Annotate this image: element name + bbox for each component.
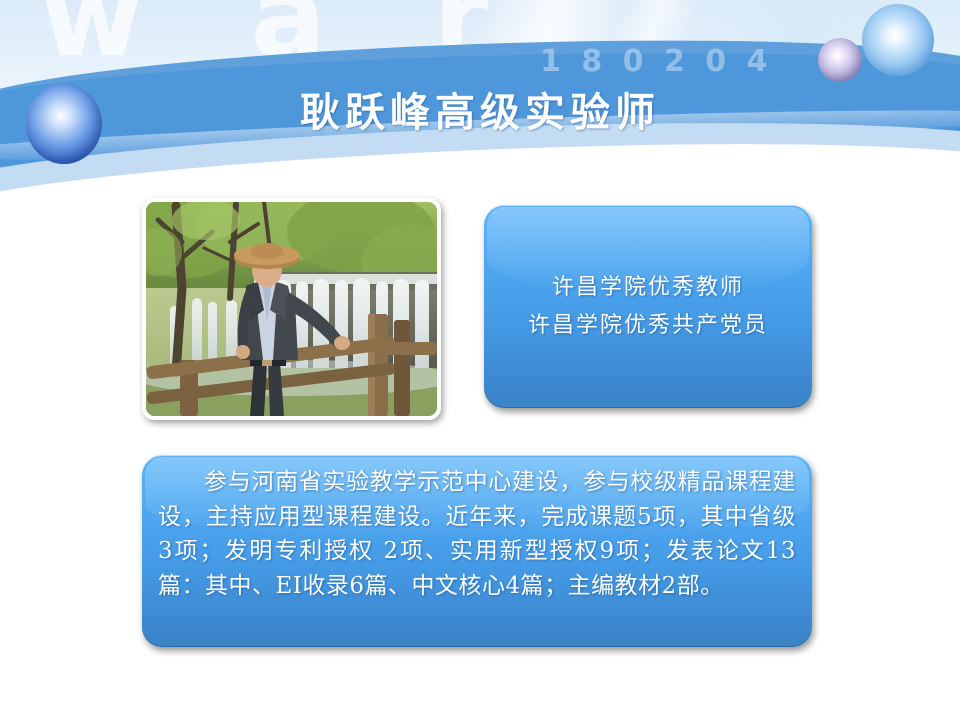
honors-box: 许昌学院优秀教师 许昌学院优秀共产党员 — [484, 205, 812, 408]
portrait-photo-frame — [142, 198, 441, 420]
page-title: 耿跃峰高级实验师 — [0, 80, 960, 138]
portrait-photo-illustration — [146, 202, 437, 416]
portrait-photo — [146, 202, 437, 416]
sphere-top-right-large-blue-icon — [862, 4, 934, 76]
background-watermark-text: w a r — [40, 0, 522, 82]
honor-line-1: 许昌学院优秀教师 — [552, 269, 744, 307]
background-band-watermark: 1 8 0 2 0 4 — [540, 44, 772, 79]
slide-canvas: w a r 1 8 0 2 0 4 耿跃峰高级实验师 — [0, 0, 960, 720]
summary-text: 参与河南省实验教学示范中心建设，参与校级精品课程建设，主持应用型课程建设。近年来… — [158, 465, 796, 603]
sphere-top-right-small-lavender-icon — [818, 38, 862, 82]
summary-box: 参与河南省实验教学示范中心建设，参与校级精品课程建设，主持应用型课程建设。近年来… — [142, 455, 812, 647]
honor-line-2: 许昌学院优秀共产党员 — [528, 307, 768, 345]
